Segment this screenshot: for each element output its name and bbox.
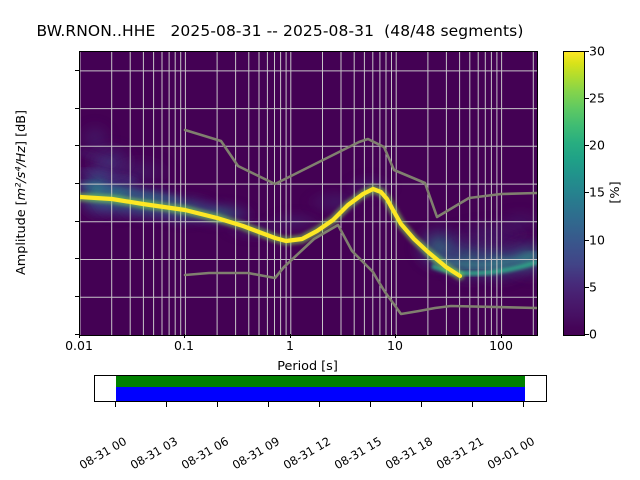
timeline-tick-label: 08-31 15 [332, 434, 384, 472]
colorbar-tick-label: 15 [589, 185, 605, 200]
timeline-tick-label: 08-31 06 [179, 434, 231, 472]
ppsd-plot-area [79, 51, 538, 336]
timeline-tick-label: 08-31 12 [281, 434, 333, 472]
y-axis-label-pre: Amplitude [ [14, 200, 29, 275]
timeline-tick-label: 09-01 00 [485, 434, 537, 472]
timeline-tick-label: 08-31 03 [128, 434, 180, 472]
colorbar-tick-label: 30 [589, 44, 605, 59]
colorbar [563, 51, 585, 336]
mode-ridge [80, 189, 460, 276]
colorbar-label: [%] [608, 51, 626, 334]
x-tick-label: 1 [286, 338, 294, 353]
x-tick-label: 10 [387, 338, 403, 353]
timeline-tick-label: 08-31 09 [230, 434, 282, 472]
ppsd-canvas [80, 52, 537, 335]
ppsd-figure: BW.RNON..HHE 2025-08-31 -- 2025-08-31 (4… [0, 0, 640, 480]
timeline-tick-label: 08-31 21 [434, 434, 486, 472]
colorbar-tick-label: 25 [589, 91, 605, 106]
page-title: BW.RNON..HHE 2025-08-31 -- 2025-08-31 (4… [0, 22, 560, 40]
timeline-tick-label: 08-31 00 [77, 434, 129, 472]
colorbar-tick-label: 5 [589, 280, 597, 295]
x-tick-label: 0.1 [174, 338, 194, 353]
x-tick-label: 100 [489, 338, 513, 353]
timeline-tick-label: 08-31 18 [383, 434, 435, 472]
y-axis-label: Amplitude [m²/s⁴/Hz] [dB] [14, 51, 32, 334]
x-tick-label: 0.01 [65, 338, 93, 353]
timeline-available-bar [116, 376, 525, 387]
x-axis-label: Period [s] [79, 359, 536, 374]
y-axis-label-units: m²/s⁴/Hz [14, 146, 29, 200]
colorbar-tick-label: 0 [589, 327, 597, 342]
y-axis-label-post: ] [dB] [14, 110, 29, 146]
colorbar-tick-label: 20 [589, 138, 605, 153]
colorbar-tick-label: 10 [589, 233, 605, 248]
timeline-selected-bar [116, 387, 525, 401]
segment-timeline[interactable] [94, 375, 547, 402]
